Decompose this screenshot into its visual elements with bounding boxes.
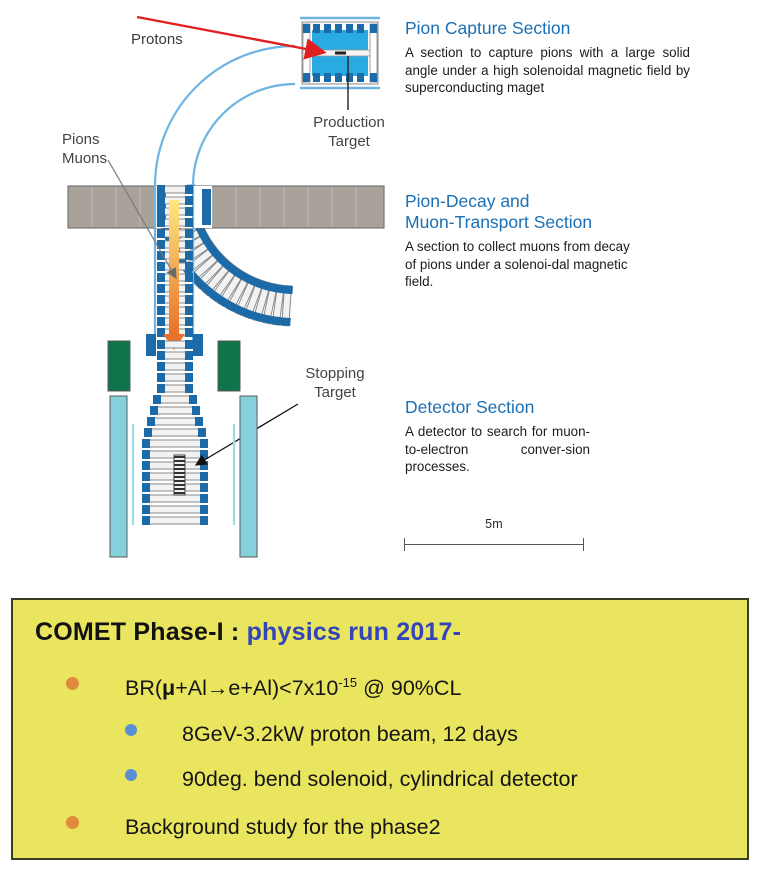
bullet-dot-level1 (66, 816, 79, 829)
section-pion-decay-muon-transport: Pion-Decay and Muon-Transport Section A … (405, 191, 705, 291)
section-body: A section to collect muons from decay of… (405, 238, 630, 291)
bullet-text: Background study for the phase2 (125, 815, 441, 840)
pion-capture-assembly (300, 18, 380, 88)
scale-bar-tick-left (404, 538, 405, 551)
stopping-target-label: Stopping Target (288, 364, 382, 402)
section-title: Detector Section (405, 397, 665, 418)
shield-wall (68, 186, 384, 228)
bullet-text: 90deg. bend solenoid, cylindrical detect… (182, 767, 578, 792)
bullet-item-solenoid-spec: 90deg. bend solenoid, cylindrical detect… (125, 767, 578, 792)
scale-bar: 5m (403, 517, 585, 557)
scale-bar-label: 5m (403, 517, 585, 531)
bullet-dot-level2 (125, 769, 137, 781)
section-body: A section to capture pions with a large … (405, 44, 690, 97)
pions-muons-label: Pions Muons (62, 130, 107, 168)
stopping-target (174, 455, 185, 495)
bullet-dot-level2 (125, 724, 137, 736)
detector-solenoid-coils (142, 340, 208, 525)
mu-symbol: μ (162, 676, 175, 700)
scale-bar-tick-right (583, 538, 584, 551)
br-exponent: -15 (338, 675, 357, 690)
production-target-marker (335, 52, 346, 55)
bullet-text: BR(μ+Al→e+Al)<7x10-15 @ 90%CL (125, 675, 461, 701)
bullet-item-branching-ratio: BR(μ+Al→e+Al)<7x10-15 @ 90%CL (66, 675, 461, 701)
br-mid: +Al→e+Al)<7x10 (175, 676, 338, 700)
section-detector: Detector Section A detector to search fo… (405, 397, 665, 476)
bullet-text: 8GeV-3.2kW proton beam, 12 days (182, 722, 518, 747)
bullet-dot-level1 (66, 677, 79, 690)
panel-title-black: COMET Phase-I : (35, 618, 247, 646)
section-title: Pion-Decay and Muon-Transport Section (405, 191, 705, 233)
panel-title-blue: physics run 2017- (247, 618, 462, 646)
section-body: A detector to search for muon-to-electro… (405, 423, 590, 476)
br-suffix: @ 90%CL (357, 676, 461, 700)
panel-title: COMET Phase-I : physics run 2017- (35, 618, 461, 647)
production-target-label: Production Target (307, 113, 391, 151)
comet-beamline-diagram (0, 0, 400, 580)
section-pion-capture: Pion Capture Section A section to captur… (405, 18, 760, 97)
slide-root: Protons Pions Muons Production Target St… (0, 0, 766, 874)
protons-label: Protons (131, 30, 183, 49)
section-title: Pion Capture Section (405, 18, 760, 39)
bullet-item-beam-spec: 8GeV-3.2kW proton beam, 12 days (125, 722, 518, 747)
bend-guide-arcs (155, 46, 295, 186)
br-prefix: BR( (125, 676, 162, 700)
bullet-item-background-study: Background study for the phase2 (66, 815, 441, 840)
scale-bar-line (404, 544, 584, 545)
